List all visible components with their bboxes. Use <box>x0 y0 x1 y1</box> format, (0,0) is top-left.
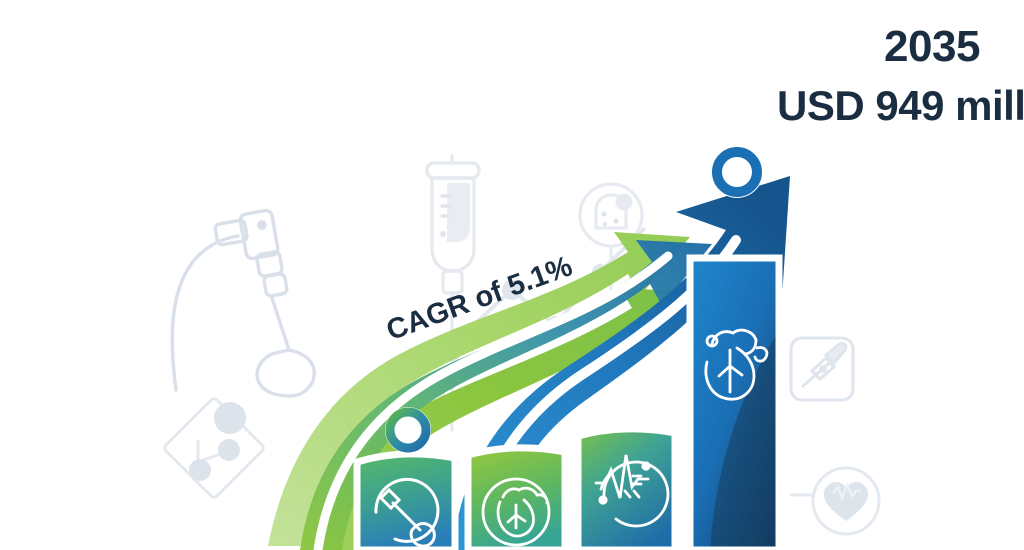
bar-4[interactable] <box>690 258 779 550</box>
scalpel-icon <box>791 338 853 400</box>
marker-ring-lower[interactable] <box>385 407 431 453</box>
marker-ring-upper[interactable] <box>711 146 763 198</box>
infographic-root: 2035 USD 949 million CAGR of 5.1% <box>0 0 1024 550</box>
bar-1[interactable] <box>357 454 455 550</box>
heart-pulse-circle-icon <box>790 468 879 534</box>
bar-2[interactable] <box>468 448 565 550</box>
diamond-network-icon <box>163 397 265 499</box>
endoscope-device-icon <box>172 210 314 396</box>
bar-3[interactable] <box>578 429 675 550</box>
